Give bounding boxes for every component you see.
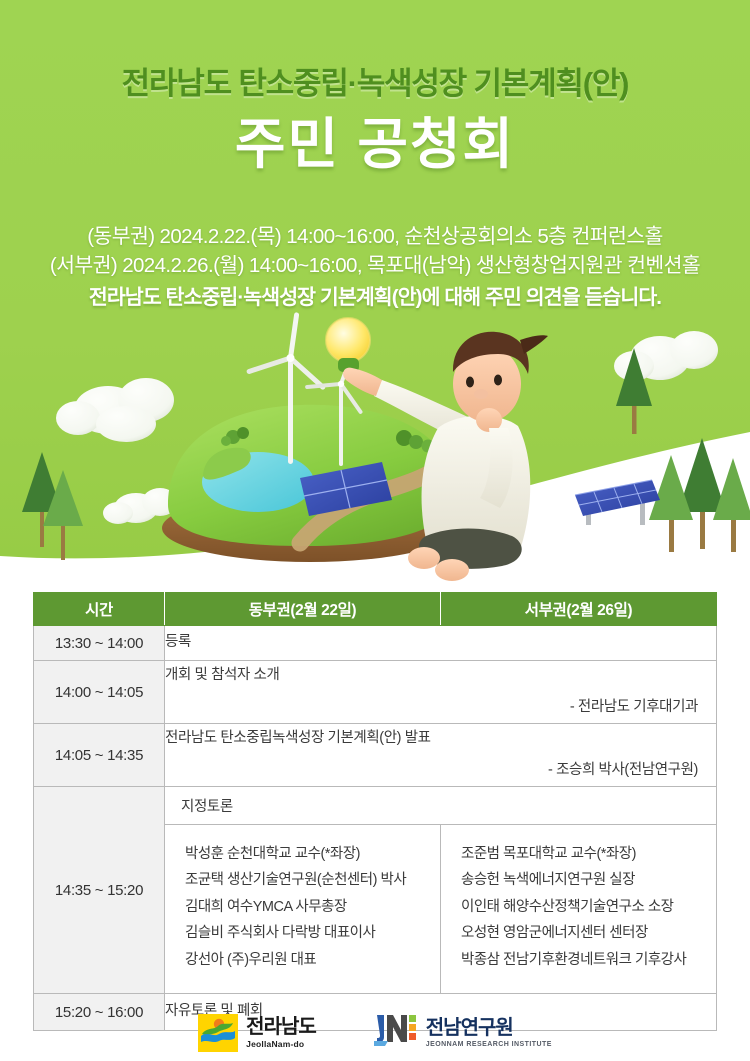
schedule-table: 시간 동부권(2월 22일) 서부권(2월 26일) 13:30 ~ 14:00… bbox=[33, 592, 717, 1031]
event-purpose-text: 전라남도 탄소중립·녹색성장 기본계획(안)에 대해 주민 의견을 듣습니다. bbox=[0, 284, 750, 312]
jeollanamdo-emblem-icon bbox=[198, 1014, 238, 1052]
row-content-main: 전라남도 탄소중립녹색성장 기본계획(안) 발표 bbox=[165, 728, 716, 750]
row-content: 개회 및 참석자 소개 - 전라남도 기후대기과 bbox=[165, 661, 717, 724]
row-time: 14:05 ~ 14:35 bbox=[34, 724, 165, 787]
poster-subtitle-plan: 전라남도 탄소중립·녹색성장 기본계획(안) bbox=[0, 66, 750, 102]
jri-wordmark: 전남연구원 JEONNAM RESEARCH INSTITUTE bbox=[426, 1018, 552, 1048]
col-header-west: 서부권(2월 26일) bbox=[441, 593, 717, 626]
list-item: 오성현 영암군에너지센터 센터장 bbox=[461, 920, 716, 946]
list-item: 조균택 생산기술연구원(순천센터) 박사 bbox=[185, 867, 440, 893]
logo-label-ko: 전남연구원 bbox=[426, 1018, 552, 1038]
table-row: 14:00 ~ 14:05 개회 및 참석자 소개 - 전라남도 기후대기과 bbox=[34, 661, 717, 724]
logo-jeollanamdo: 전라남도 JeollaNam-do bbox=[198, 1014, 316, 1052]
row-content-main: 등록 bbox=[165, 632, 716, 654]
panel-columns: 박성훈 순천대학교 교수(*좌장) 조균택 생산기술연구원(순천센터) 박사 김… bbox=[165, 825, 716, 993]
panel-list-west: 조준범 목포대학교 교수(*좌장) 송승헌 녹색에너지연구원 실장 이인태 해양… bbox=[441, 825, 716, 993]
row-content-main: 개회 및 참석자 소개 bbox=[165, 665, 716, 687]
row-time: 13:30 ~ 14:00 bbox=[34, 626, 165, 661]
tree-icon bbox=[713, 458, 750, 552]
row-content: 등록 bbox=[165, 626, 717, 661]
event-info: (동부권) 2024.2.22.(목) 14:00~16:00, 순천상공회의소… bbox=[0, 222, 750, 312]
panel-discussion-cell: 지정토론 박성훈 순천대학교 교수(*좌장) 조균택 생산기술연구원(순천센터)… bbox=[165, 787, 717, 994]
list-item: 김대희 여수YMCA 사무총장 bbox=[185, 894, 440, 920]
event-info-west: (서부권) 2024.2.26.(월) 14:00~16:00, 목포대(남악)… bbox=[0, 251, 750, 280]
list-item: 송승헌 녹색에너지연구원 실장 bbox=[461, 867, 716, 893]
hero-illustration bbox=[0, 300, 750, 600]
tree-icon bbox=[649, 455, 693, 552]
col-header-time: 시간 bbox=[34, 593, 165, 626]
list-item: 박종삼 전남기후환경네트워크 기후강사 bbox=[461, 947, 716, 973]
list-item: 강선아 (주)우리원 대표 bbox=[185, 947, 440, 973]
list-item: 이인태 해양수산정책기술연구소 소장 bbox=[461, 894, 716, 920]
schedule-table-container: 시간 동부권(2월 22일) 서부권(2월 26일) 13:30 ~ 14:00… bbox=[33, 592, 717, 1031]
col-header-east: 동부권(2월 22일) bbox=[165, 593, 441, 626]
poster-header: 전라남도 탄소중립·녹색성장 기본계획(안) 주민 공청회 bbox=[0, 0, 750, 174]
tree-icon bbox=[678, 438, 726, 549]
logo-jeonnam-research-institute: 전남연구원 JEONNAM RESEARCH INSTITUTE bbox=[374, 1011, 552, 1054]
page-title: 주민 공청회 bbox=[0, 114, 750, 175]
jeollanamdo-wordmark: 전라남도 JeollaNam-do bbox=[246, 1017, 316, 1049]
table-row: 13:30 ~ 14:00 등록 bbox=[34, 626, 717, 661]
panel-list-east: 박성훈 순천대학교 교수(*좌장) 조균택 생산기술연구원(순천센터) 박사 김… bbox=[165, 825, 441, 993]
list-item: 김슬비 주식회사 다락방 대표이사 bbox=[185, 920, 440, 946]
footer-logos: 전라남도 JeollaNam-do 전남연구원 JEONNAM RESEARCH… bbox=[0, 1004, 750, 1061]
cloud-icon bbox=[103, 488, 178, 524]
panel-discussion-title: 지정토론 bbox=[165, 787, 716, 825]
list-item: 박성훈 순천대학교 교수(*좌장) bbox=[185, 841, 440, 867]
jri-emblem-icon bbox=[374, 1011, 418, 1054]
row-content-presenter: - 전라남도 기후대기과 bbox=[165, 697, 716, 719]
row-time: 14:35 ~ 15:20 bbox=[34, 787, 165, 994]
solar-panel-icon bbox=[575, 480, 660, 525]
logo-label-ko: 전라남도 bbox=[246, 1017, 316, 1037]
row-time: 14:00 ~ 14:05 bbox=[34, 661, 165, 724]
logo-label-en: JEONNAM RESEARCH INSTITUTE bbox=[426, 1041, 552, 1048]
row-content: 전라남도 탄소중립녹색성장 기본계획(안) 발표 - 조승희 박사(전남연구원) bbox=[165, 724, 717, 787]
table-row-panel: 14:35 ~ 15:20 지정토론 박성훈 순천대학교 교수(*좌장) 조균택… bbox=[34, 787, 717, 994]
list-item: 조준범 목포대학교 교수(*좌장) bbox=[461, 841, 716, 867]
logo-label-en: JeollaNam-do bbox=[246, 1040, 316, 1049]
table-header-row: 시간 동부권(2월 22일) 서부권(2월 26일) bbox=[34, 593, 717, 626]
row-content-presenter: - 조승희 박사(전남연구원) bbox=[165, 760, 716, 782]
lightbulb-icon bbox=[326, 318, 370, 372]
event-info-east: (동부권) 2024.2.22.(목) 14:00~16:00, 순천상공회의소… bbox=[0, 222, 750, 251]
cloud-icon bbox=[56, 378, 174, 442]
poster-canvas: 전라남도 탄소중립·녹색성장 기본계획(안) 주민 공청회 (동부권) 2024… bbox=[0, 0, 750, 1061]
table-row: 14:05 ~ 14:35 전라남도 탄소중립녹색성장 기본계획(안) 발표 -… bbox=[34, 724, 717, 787]
